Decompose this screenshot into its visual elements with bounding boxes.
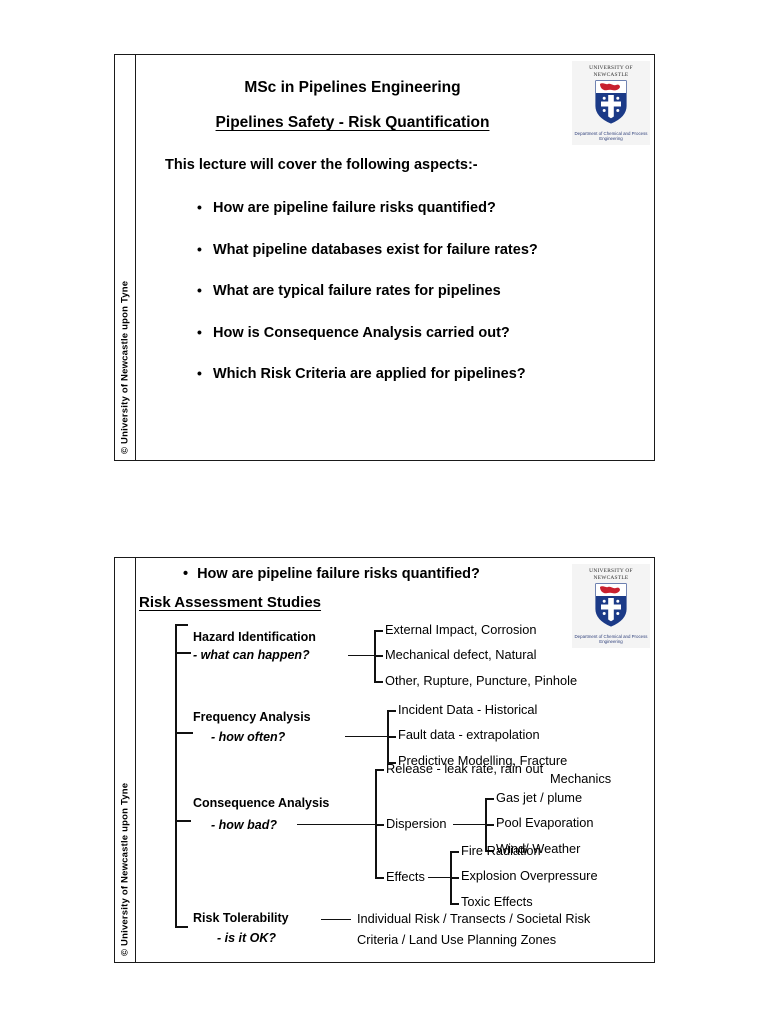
- spine-tick-consequence: [175, 820, 191, 822]
- slide-2: © University of Newcastle upon Tyne UNIV…: [114, 557, 655, 963]
- copyright-text: © University of Newcastle upon Tyne: [120, 783, 131, 956]
- connector-effects-to-children: [428, 877, 450, 878]
- leaf-bracket-hazard-mid: [374, 655, 383, 657]
- logo-newcastle-line: NEWCASTLE: [594, 72, 629, 79]
- branch-question-risk-tolerability: - is it OK?: [217, 931, 276, 946]
- master-bracket-spine: [175, 624, 177, 926]
- sub-bracket-effects-mid: [450, 877, 459, 879]
- list-item: Which Risk Criteria are applied for pipe…: [197, 366, 644, 382]
- leaf-label-overflow: Mechanics: [550, 771, 611, 786]
- branch-question-hazard-identification: - what can happen?: [193, 648, 310, 663]
- list-item: How are pipeline failure risks quantifie…: [197, 200, 644, 216]
- copyright-strip-slide-1: © University of Newcastle upon Tyne: [115, 55, 136, 460]
- leaf-bracket-hazard-top: [374, 630, 383, 632]
- leaf-label: Fault data - extrapolation: [398, 727, 540, 742]
- logo-department-text: Department of Chemical and Process Engin…: [572, 131, 650, 142]
- sub-bracket-effects-bottom: [450, 903, 459, 905]
- sub-bracket-dispersion-mid: [485, 824, 494, 826]
- slide-1-bullet-list: How are pipeline failure risks quantifie…: [197, 200, 644, 408]
- spine-tick-hazard: [175, 652, 191, 654]
- leaf-label: Other, Rupture, Puncture, Pinhole: [385, 673, 577, 688]
- leaf-label: External Impact, Corrosion: [385, 622, 537, 637]
- leaf-label: Gas jet / plume: [496, 790, 582, 805]
- leaf-bracket-hazard-bottom: [374, 681, 383, 683]
- leaf-label: Pool Evaporation: [496, 815, 593, 830]
- shield-icon: [594, 80, 628, 129]
- leaf-label: Explosion Overpressure: [461, 868, 598, 883]
- leaf-label: Release - leak rate, rain out: [386, 761, 543, 776]
- branch-title-consequence-analysis: Consequence Analysis: [193, 796, 329, 811]
- leaf-label: Toxic Effects: [461, 894, 533, 909]
- leaf-bracket-consequence-mid: [375, 824, 384, 826]
- risk-assessment-diagram: Hazard Identification - what can happen?…: [135, 558, 654, 962]
- master-bracket-tick-1: [175, 624, 188, 626]
- connector-consequence-to-leaves: [297, 824, 375, 825]
- leaf-bracket-consequence-top: [375, 769, 384, 771]
- branch-question-consequence-analysis: - how bad?: [211, 818, 277, 833]
- leaf-bracket-consequence-bottom: [375, 877, 384, 879]
- slide-1-body: UNIVERSITY OF NEWCASTLE Department of Ch…: [135, 55, 654, 460]
- spine-tick-frequency: [175, 732, 193, 734]
- slide-2-body: UNIVERSITY OF NEWCASTLE Department of Ch…: [135, 558, 654, 962]
- master-bracket-tick-2: [175, 926, 188, 928]
- leaf-label: Fire Radiation: [461, 843, 541, 858]
- connector-hazard-to-leaves: [348, 655, 374, 656]
- leaf-label-dispersion: Dispersion: [386, 816, 446, 831]
- leaf-bracket-frequency-mid: [387, 736, 396, 738]
- list-item: What pipeline databases exist for failur…: [197, 242, 644, 258]
- leaf-bracket-consequence: [375, 769, 377, 877]
- slide-1-lead-text: This lecture will cover the following as…: [165, 157, 478, 173]
- connector-frequency-to-leaves: [345, 736, 387, 737]
- branch-question-frequency-analysis: - how often?: [211, 730, 285, 745]
- leaf-label: Individual Risk / Transects / Societal R…: [357, 911, 590, 926]
- leaf-label: Incident Data - Historical: [398, 702, 537, 717]
- slide-1: © University of Newcastle upon Tyne UNIV…: [114, 54, 655, 461]
- list-item: What are typical failure rates for pipel…: [197, 283, 644, 299]
- slide-1-title-line-1: MSc in Pipelines Engineering: [135, 79, 570, 97]
- connector-risk-tolerability: [321, 919, 351, 920]
- branch-title-risk-tolerability: Risk Tolerability: [193, 911, 289, 926]
- copyright-text: © University of Newcastle upon Tyne: [120, 281, 131, 454]
- copyright-strip-slide-2: © University of Newcastle upon Tyne: [115, 558, 136, 962]
- connector-dispersion-to-children: [453, 824, 485, 825]
- sub-bracket-effects-top: [450, 851, 459, 853]
- sub-bracket-dispersion-top: [485, 798, 494, 800]
- logo-university-line: UNIVERSITY OF: [589, 65, 633, 72]
- leaf-label-effects: Effects: [386, 869, 425, 884]
- leaf-label: Mechanical defect, Natural: [385, 647, 537, 662]
- slide-1-title-line-2: Pipelines Safety - Risk Quantification: [135, 114, 570, 132]
- newcastle-university-logo: UNIVERSITY OF NEWCASTLE Department of Ch…: [572, 61, 650, 145]
- list-item: How is Consequence Analysis carried out?: [197, 325, 644, 341]
- branch-title-frequency-analysis: Frequency Analysis: [193, 710, 311, 725]
- leaf-label: Criteria / Land Use Planning Zones: [357, 932, 556, 947]
- leaf-bracket-frequency-top: [387, 710, 396, 712]
- branch-title-hazard-identification: Hazard Identification: [193, 630, 316, 645]
